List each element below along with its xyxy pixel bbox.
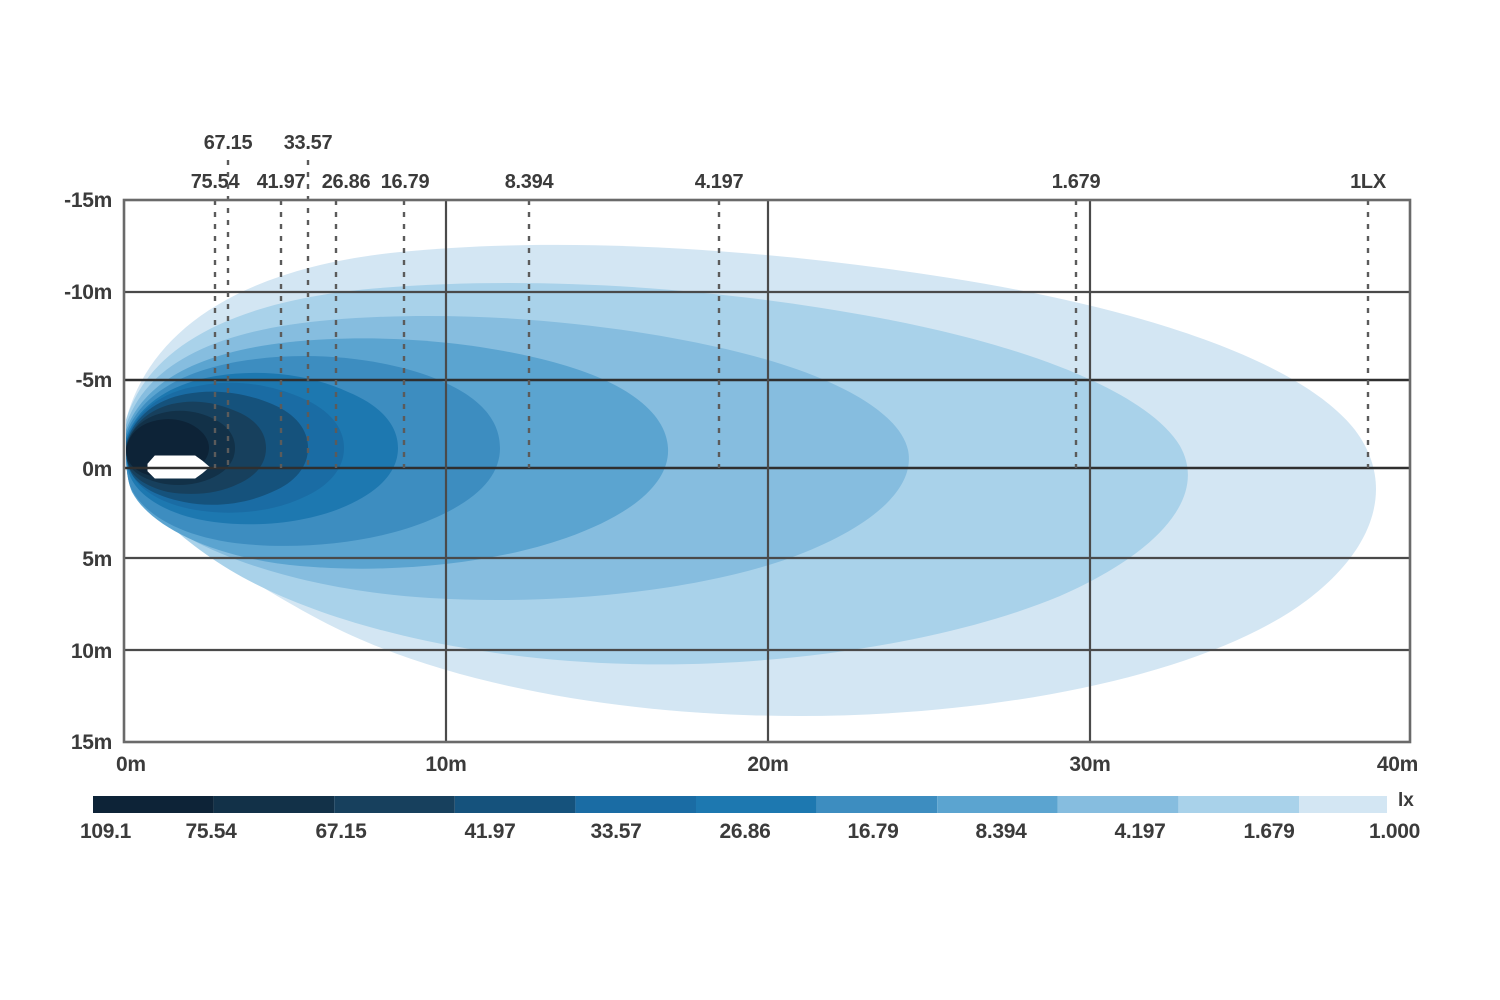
legend-swatch-67.15 <box>334 796 455 813</box>
x-tick-30m: 30m <box>1069 753 1110 776</box>
legend-label-16.79: 16.79 <box>847 820 898 843</box>
legend-swatch-41.97 <box>455 796 576 813</box>
y-tick-5m: 5m <box>82 548 112 571</box>
iso-label-4.197: 4.197 <box>695 171 744 193</box>
iso-label-1lx: 1LX <box>1350 171 1387 193</box>
y-tick--15m: -15m <box>64 189 112 212</box>
iso-label-26.86: 26.86 <box>322 171 371 193</box>
legend-label-4.197: 4.197 <box>1114 820 1165 843</box>
x-tick-10m: 10m <box>425 753 466 776</box>
y-tick-0m: 0m <box>82 458 112 481</box>
iso-label-33.57: 33.57 <box>284 132 333 154</box>
legend-label-67.15: 67.15 <box>315 820 367 843</box>
legend-label-109.1: 109.1 <box>80 820 132 843</box>
legend-unit-label: lx <box>1398 790 1414 811</box>
legend-swatch-4.197 <box>1058 796 1179 813</box>
iso-label-75.54: 75.54 <box>191 171 241 193</box>
x-tick-0m: 0m <box>116 753 146 776</box>
iso-label-1.679: 1.679 <box>1052 171 1101 193</box>
legend-colorbar <box>93 796 1387 813</box>
legend-swatch-1.679 <box>1178 796 1299 813</box>
legend-swatch-8.394 <box>937 796 1058 813</box>
legend-label-41.97: 41.97 <box>464 820 515 843</box>
iso-label-67.15: 67.15 <box>204 132 253 154</box>
legend-swatch-109.1 <box>93 796 214 813</box>
y-tick--5m: -5m <box>76 369 112 392</box>
legend-label-75.54: 75.54 <box>185 820 237 843</box>
y-tick-10m: 10m <box>71 640 112 663</box>
legend-swatch-16.79 <box>817 796 938 813</box>
legend-swatch-26.86 <box>696 796 817 813</box>
x-tick-40m: 40m <box>1377 753 1418 776</box>
iso-label-8.394: 8.394 <box>505 171 555 193</box>
legend-label-33.57: 33.57 <box>590 820 641 843</box>
y-tick--10m: -10m <box>64 281 112 304</box>
legend-label-1.679: 1.679 <box>1243 820 1294 843</box>
legend-swatch-33.57 <box>575 796 696 813</box>
light-distribution-diagram: 67.15 33.57 75.54 41.97 26.86 16.79 8.39… <box>0 0 1500 1000</box>
legend-swatch-75.54 <box>214 796 335 813</box>
legend-label-1.000: 1.000 <box>1369 820 1420 843</box>
legend-swatch-1.000 <box>1299 796 1387 813</box>
x-tick-20m: 20m <box>747 753 788 776</box>
legend-label-26.86: 26.86 <box>719 820 770 843</box>
iso-label-41.97: 41.97 <box>257 171 306 193</box>
legend-label-8.394: 8.394 <box>975 820 1027 843</box>
beam-pattern-chart: 67.15 33.57 75.54 41.97 26.86 16.79 8.39… <box>0 0 1500 1000</box>
y-tick-15m: 15m <box>71 731 112 754</box>
iso-label-16.79: 16.79 <box>381 171 430 193</box>
